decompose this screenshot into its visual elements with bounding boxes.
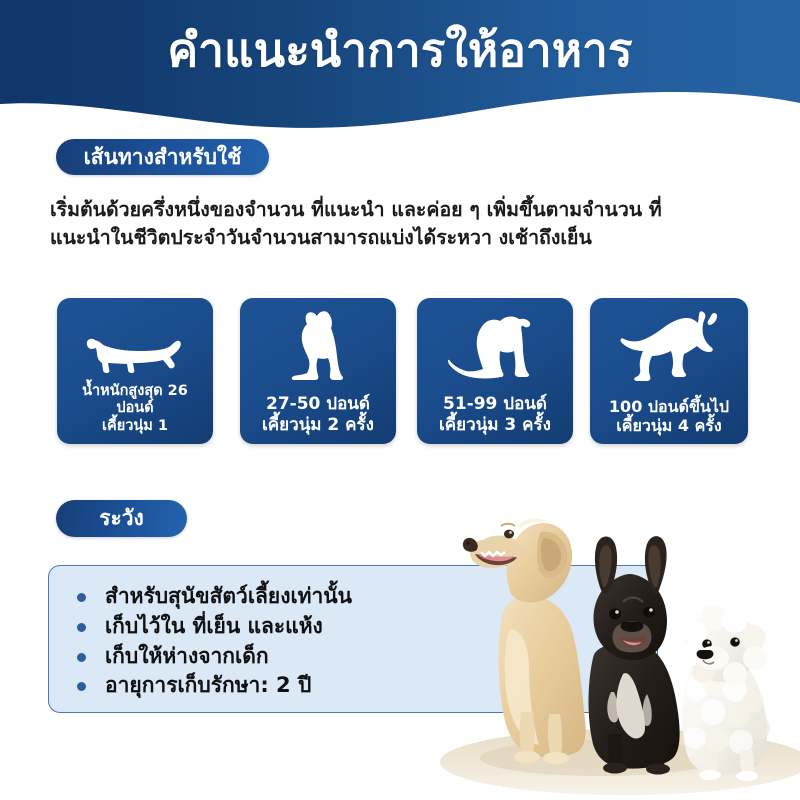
caution-bullet-label: เก็บไว้ใน ที่เย็น และแห้ง <box>105 614 323 638</box>
dosage-card-2-line-2: เคี้ยวนุ่ม 2 ครั้ง <box>244 415 392 435</box>
usage-paragraph-line-2: แนะนำในชีวิตประจำวันจำนวนสามารถแบ่งได้ระ… <box>50 224 762 252</box>
three-dogs-photo <box>425 462 800 800</box>
dosage-card-3-line-2: เคี้ยวนุ่ม 3 ครั้ง <box>421 415 569 435</box>
golden-retriever <box>463 519 586 764</box>
dosage-card-1-text: น้ำหนักสูงสุด 26 ปอนด์ เคี้ยวนุ่ม 1 <box>61 383 209 435</box>
dosage-card-1-line-1: น้ำหนักสูงสุด 26 ปอนด์ <box>61 383 209 418</box>
header-banner: คำแนะนำการให้อาหาร <box>0 0 800 160</box>
bullet-dot-icon <box>77 623 86 632</box>
caution-bullet-item: สำหรับสุนัขสัตว์เลี้ยงเท่านั้น <box>71 582 352 612</box>
dosage-card-3: 51-99 ปอนด์ เคี้ยวนุ่ม 3 ครั้ง <box>417 298 573 444</box>
dosage-card-4: 100 ปอนด์ขึ้นไป เคี้ยวนุ่ม 4 ครั้ง <box>590 298 748 444</box>
usage-section-badge: เส้นทางสำหรับใช้ <box>56 139 269 175</box>
caution-bullet-label: เก็บให้ห่างจากเด็ก <box>105 644 269 668</box>
retriever-dog-icon <box>417 304 573 384</box>
usage-badge-label: เส้นทางสำหรับใช้ <box>84 141 242 174</box>
dosage-card-2-line-1: 27-50 ปอนด์ <box>244 394 392 414</box>
dosage-card-3-line-1: 51-99 ปอนด์ <box>421 394 569 414</box>
caution-bullet-label: อายุการเก็บรักษา: 2 ปี <box>105 673 311 697</box>
page-title: คำแนะนำการให้อาหาร <box>0 22 800 80</box>
sitting-dog-icon <box>240 304 396 384</box>
bullet-dot-icon <box>77 593 86 602</box>
dosage-card-1-line-2: เคี้ยวนุ่ม 1 <box>61 418 209 435</box>
bullet-dot-icon <box>77 682 86 691</box>
caution-bullet-item: อายุการเก็บรักษา: 2 ปี <box>71 671 352 701</box>
dosage-card-4-line-2: เคี้ยวนุ่ม 4 ครั้ง <box>594 416 744 435</box>
dosage-card-3-text: 51-99 ปอนด์ เคี้ยวนุ่ม 3 ครั้ง <box>421 394 569 435</box>
caution-section-badge: ระวัง <box>56 500 187 537</box>
dosage-card-4-text: 100 ปอนด์ขึ้นไป เคี้ยวนุ่ม 4 ครั้ง <box>594 397 744 435</box>
caution-bullet-list: สำหรับสุนัขสัตว์เลี้ยงเท่านั้น เก็บไว้ใน… <box>71 582 352 701</box>
dosage-card-4-line-1: 100 ปอนด์ขึ้นไป <box>594 397 744 416</box>
usage-paragraph-line-1: เริ่มต้นด้วยครึ่งหนึ่งของจำนวน ที่แนะนำ … <box>50 196 762 224</box>
dosage-card-2: 27-50 ปอนด์ เคี้ยวนุ่ม 2 ครั้ง <box>240 298 396 444</box>
caution-bullet-item: เก็บให้ห่างจากเด็ก <box>71 642 352 672</box>
maltese <box>679 605 770 781</box>
dosage-cards-row: น้ำหนักสูงสุด 26 ปอนด์ เคี้ยวนุ่ม 1 27-5… <box>57 298 746 444</box>
caution-bullet-item: เก็บไว้ใน ที่เย็น และแห้ง <box>71 612 352 642</box>
usage-paragraph: เริ่มต้นด้วยครึ่งหนึ่งของจำนวน ที่แนะนำ … <box>50 196 762 251</box>
french-bulldog <box>589 536 680 774</box>
caution-badge-label: ระวัง <box>99 502 144 535</box>
dosage-card-1: น้ำหนักสูงสุด 26 ปอนด์ เคี้ยวนุ่ม 1 <box>57 298 213 444</box>
dosage-card-2-text: 27-50 ปอนด์ เคี้ยวนุ่ม 2 ครั้ง <box>244 394 392 435</box>
shepherd-dog-icon <box>590 304 748 384</box>
caution-bullet-label: สำหรับสุนัขสัตว์เลี้ยงเท่านั้น <box>105 584 352 608</box>
dachshund-dog-icon <box>57 304 213 384</box>
bullet-dot-icon <box>77 653 86 662</box>
feeding-instructions-page: คำแนะนำการให้อาหาร เส้นทางสำหรับใช้ เริ่… <box>0 0 800 800</box>
